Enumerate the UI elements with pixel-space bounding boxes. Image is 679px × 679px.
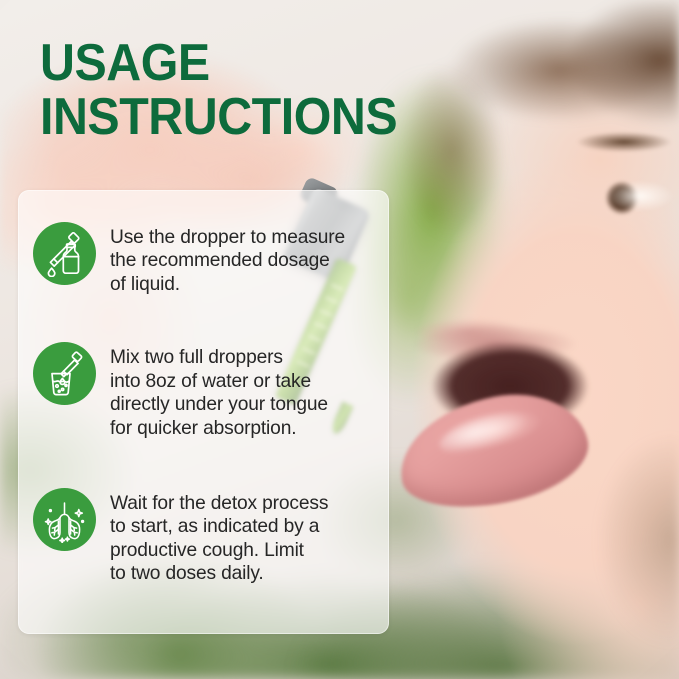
instruction-steps-list: Use the dropper to measure the recommend… xyxy=(18,190,389,634)
step-2-text: Mix two full droppers into 8oz of water … xyxy=(110,342,328,440)
step-3-text: Wait for the detox process to start, as … xyxy=(110,488,328,586)
instructions-card: Use the dropper to measure the recommend… xyxy=(18,190,389,634)
step-1-text: Use the dropper to measure the recommend… xyxy=(110,222,345,296)
usage-instructions-poster: USAGE INSTRUCTIONS xyxy=(0,0,679,679)
dropper-glass-icon xyxy=(42,351,88,397)
dropper-bottle-icon xyxy=(42,231,88,277)
page-title-line-1: USAGE xyxy=(40,40,397,88)
page-title: USAGE INSTRUCTIONS xyxy=(40,40,424,142)
instruction-step-1: Use the dropper to measure the recommend… xyxy=(33,222,377,296)
step-1-icon-badge xyxy=(33,222,96,285)
page-title-line-2: INSTRUCTIONS xyxy=(40,94,397,142)
step-3-icon-badge xyxy=(33,488,96,551)
instruction-step-2: Mix two full droppers into 8oz of water … xyxy=(33,342,377,440)
step-2-icon-badge xyxy=(33,342,96,405)
instruction-step-3: Wait for the detox process to start, as … xyxy=(33,488,377,586)
lungs-sparkle-icon xyxy=(41,496,88,543)
